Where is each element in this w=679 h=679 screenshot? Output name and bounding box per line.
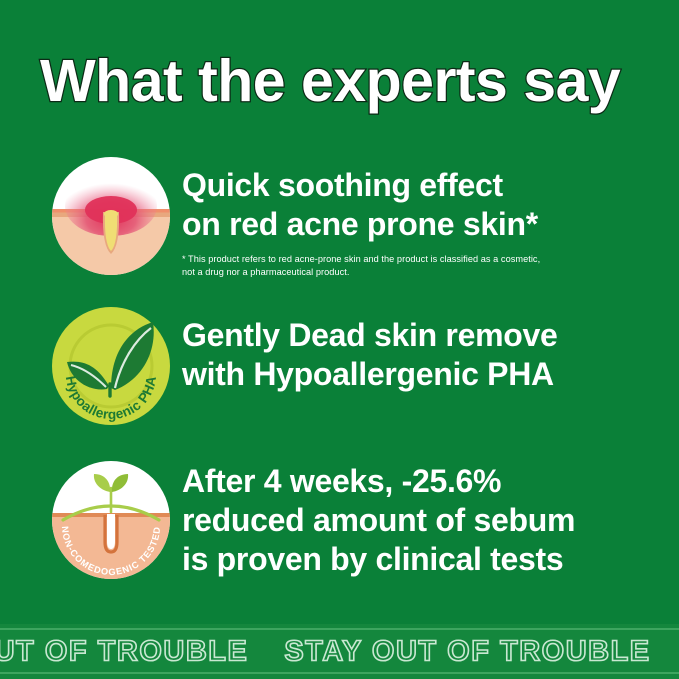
headline-line: is proven by clinical tests xyxy=(182,540,662,579)
headline-line: with Hypoallergenic PHA xyxy=(182,355,662,394)
headline-line: After 4 weeks, -25.6% xyxy=(182,462,662,501)
feature-headline: After 4 weeks, -25.6% reduced amount of … xyxy=(182,462,662,579)
page-title: What the experts say xyxy=(40,52,650,111)
footnote-line: * This product refers to red acne-prone … xyxy=(182,253,662,266)
ribbon-word: STAY OUT OF TROUBLE xyxy=(0,635,284,668)
feature-headline: Quick soothing effect on red acne prone … xyxy=(182,166,662,244)
headline-line: reduced amount of sebum xyxy=(182,501,662,540)
feature-footnote: * This product refers to red acne-prone … xyxy=(182,253,662,280)
feature-headline: Gently Dead skin remove with Hypoallerge… xyxy=(182,316,662,394)
ribbon-text-track: STAY OUT OF TROUBLE STAY OUT OF TROUBLE … xyxy=(0,635,679,668)
ribbon-divider-bottom xyxy=(0,672,679,674)
hypoallergenic-pha-badge-icon: Hypoallergenic PHA xyxy=(49,304,173,428)
headline-line: Gently Dead skin remove xyxy=(182,316,662,355)
feature-text-block: Quick soothing effect on red acne prone … xyxy=(182,166,662,280)
feature-text-block: After 4 weeks, -25.6% reduced amount of … xyxy=(182,462,662,579)
headline-line: Quick soothing effect xyxy=(182,166,662,205)
feature-text-block: Gently Dead skin remove with Hypoallerge… xyxy=(182,316,662,394)
product-claims-poster: What the experts say xyxy=(0,0,679,679)
ribbon-word: STAY OUT OF TROUBLE xyxy=(284,635,679,668)
bottom-marquee-ribbon: STAY OUT OF TROUBLE STAY OUT OF TROUBLE … xyxy=(0,624,679,679)
footnote-line: not a drug nor a pharmaceutical product. xyxy=(182,266,662,279)
acne-pore-icon xyxy=(49,154,173,278)
ribbon-divider-top xyxy=(0,628,679,630)
non-comedogenic-tested-badge-icon: NON-COMEDOGENIC TESTED xyxy=(49,458,173,582)
headline-line: on red acne prone skin* xyxy=(182,205,662,244)
